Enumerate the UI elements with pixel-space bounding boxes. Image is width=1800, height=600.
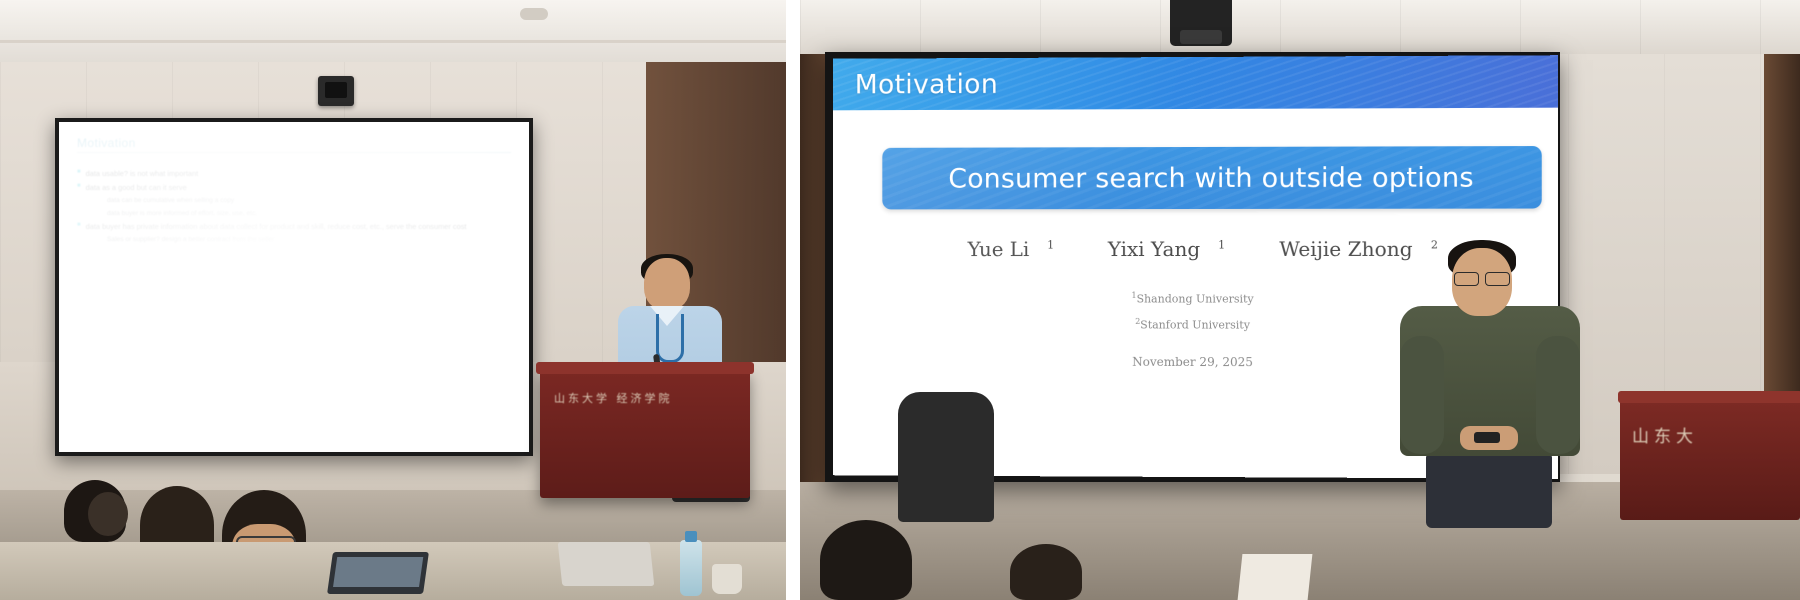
right-presenter <box>1400 240 1580 520</box>
author-affiliation-marker: 1 <box>1047 238 1054 251</box>
left-presenter-head <box>644 258 690 310</box>
author-affiliation-marker: 1 <box>1218 238 1225 251</box>
right-podium-label: 山东大 <box>1632 422 1698 447</box>
slide-title-box: Consumer search with outside options <box>882 146 1541 209</box>
right-presenter-arm-left <box>1400 336 1444 454</box>
bullet-dot-icon: ■ <box>77 181 81 192</box>
right-presenter-arm-right <box>1536 336 1580 454</box>
bullet-text: data buyer has private information about… <box>86 220 467 234</box>
list-item: ■ data as a good but can it serve <box>77 181 511 195</box>
audience-head <box>1010 544 1082 600</box>
slide-header-bar: Motivation <box>833 55 1558 110</box>
left-slide-bullet-list: ■ data usable? is not what important ■ d… <box>77 167 511 247</box>
bullet-text: data usable? is not what important <box>86 167 199 181</box>
affiliation-name: Shandong University <box>1137 293 1254 306</box>
right-presenter-legs <box>1426 452 1552 528</box>
list-item: ■ data usable? is not what important <box>77 167 511 181</box>
right-podium: 山东大 <box>1620 400 1800 520</box>
left-audience-area <box>0 460 786 600</box>
bullet-subtext: Sales or supplier? design a better contr… <box>107 234 511 247</box>
cup-icon <box>712 564 742 594</box>
panel-divider <box>786 0 800 600</box>
left-podium-top <box>536 362 754 374</box>
slide-title-text: Consumer search with outside options <box>948 162 1473 194</box>
left-ceiling-trim <box>0 40 786 43</box>
laptop-icon <box>327 552 429 594</box>
left-projector-icon <box>318 76 354 106</box>
screenshot-stage: Motivation ■ data usable? is not what im… <box>0 0 1800 600</box>
bullet-text: data as a good but can it serve <box>86 181 187 195</box>
left-projection-screen-frame: Motivation ■ data usable? is not what im… <box>55 118 533 456</box>
author-name: Weijie Zhong <box>1279 237 1412 261</box>
water-bottle-icon <box>680 540 702 596</box>
right-photo-panel: Motivation Consumer search with outside … <box>800 0 1800 600</box>
author-name: Yue Li <box>968 237 1030 261</box>
left-slide-title-rule <box>77 152 511 153</box>
left-ceiling <box>0 0 786 63</box>
left-ceiling-vent-icon <box>520 8 548 20</box>
audience-head <box>88 492 128 536</box>
laptop-icon <box>558 542 655 586</box>
bullet-dot-icon: ■ <box>77 167 81 178</box>
bullet-subtext: data buyer is more informed of effort, s… <box>107 208 511 221</box>
left-photo-panel: Motivation ■ data usable? is not what im… <box>0 0 786 600</box>
left-podium-label: 山东大学 经济学院 <box>554 390 673 406</box>
paper-icon <box>1238 554 1313 600</box>
right-ceiling-grid <box>800 0 1800 54</box>
affiliation-name: Stanford University <box>1140 319 1250 332</box>
author-name: Yixi Yang <box>1108 237 1200 261</box>
left-presenter-lanyard <box>656 314 684 363</box>
left-slide-title: Motivation <box>77 136 511 150</box>
author-entry: Yue Li1 <box>950 237 1054 261</box>
projector-icon <box>1170 0 1232 46</box>
audience-head <box>820 520 912 600</box>
list-item: ■ data buyer has private information abo… <box>77 220 511 234</box>
presentation-clicker-icon <box>1474 432 1500 443</box>
glasses-icon <box>1454 272 1510 284</box>
left-slide-content: Motivation ■ data usable? is not what im… <box>77 136 511 438</box>
right-podium-top <box>1618 391 1800 403</box>
right-chair <box>898 392 994 522</box>
left-projection-screen: Motivation ■ data usable? is not what im… <box>59 122 529 452</box>
bullet-dot-icon: ■ <box>77 220 81 231</box>
author-entry: Yixi Yang1 <box>1090 237 1225 261</box>
slide-header-title: Motivation <box>855 69 998 100</box>
bullet-subtext: data can be cumulative when selling a co… <box>107 195 511 208</box>
